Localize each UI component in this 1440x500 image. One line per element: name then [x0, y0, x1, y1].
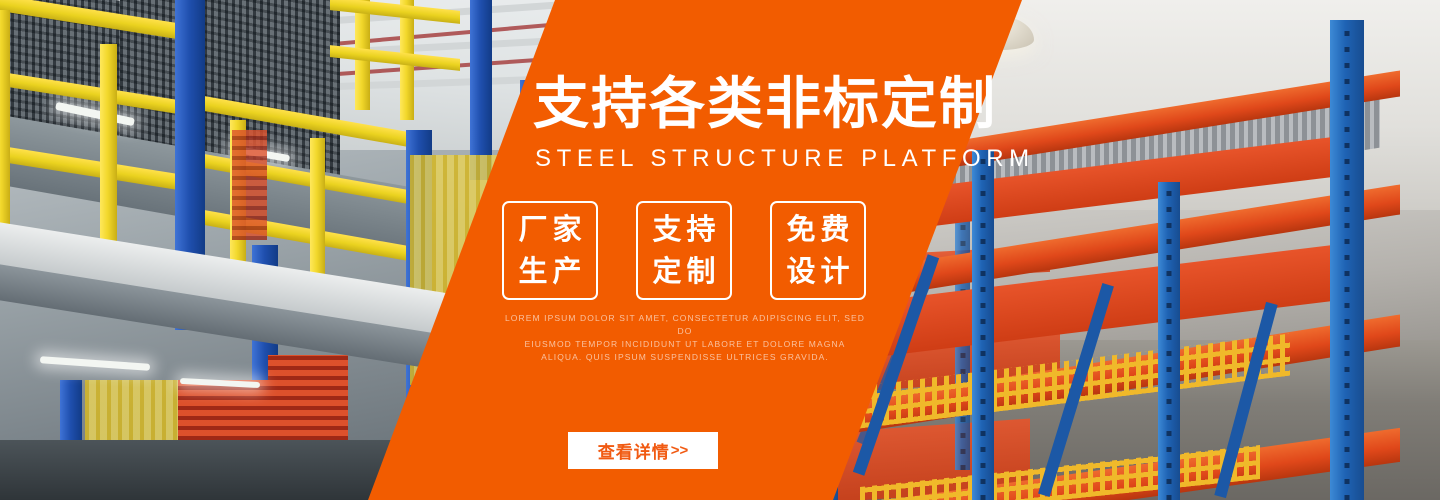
page-title: 支持各类非标定制 — [533, 74, 997, 134]
feature-line-2: 设计 — [781, 251, 854, 293]
promo-banner: 支持各类非标定制 STEEL STRUCTURE PLATFORM 厂家 生产 … — [0, 0, 1440, 500]
description-line: EIUSMOD TEMPOR INCIDIDUNT UT LABORE ET D… — [500, 338, 870, 351]
feature-line-1: 免费 — [781, 209, 854, 251]
view-details-button[interactable]: 查看详情 >> — [568, 432, 718, 469]
feature-line-1: 支持 — [647, 209, 720, 251]
feature-line-2: 生产 — [513, 251, 586, 293]
banner-content: 支持各类非标定制 STEEL STRUCTURE PLATFORM 厂家 生产 … — [0, 0, 1440, 500]
feature-box-customization: 支持 定制 — [636, 201, 732, 300]
feature-box-list: 厂家 生产 支持 定制 免费 设计 — [502, 201, 866, 300]
feature-box-manufacturer: 厂家 生产 — [502, 201, 598, 300]
chevron-right-icon: >> — [671, 442, 689, 459]
feature-box-free-design: 免费 设计 — [770, 201, 866, 300]
description-line: ALIQUA. QUIS IPSUM SUSPENDISSE ULTRICES … — [500, 351, 870, 364]
feature-line-2: 定制 — [647, 251, 720, 293]
feature-line-1: 厂家 — [513, 209, 586, 251]
page-subtitle: STEEL STRUCTURE PLATFORM — [535, 145, 1035, 173]
description-line: LOREM IPSUM DOLOR SIT AMET, CONSECTETUR … — [500, 312, 870, 338]
description-text: LOREM IPSUM DOLOR SIT AMET, CONSECTETUR … — [500, 312, 870, 364]
cta-label: 查看详情 — [598, 438, 670, 463]
